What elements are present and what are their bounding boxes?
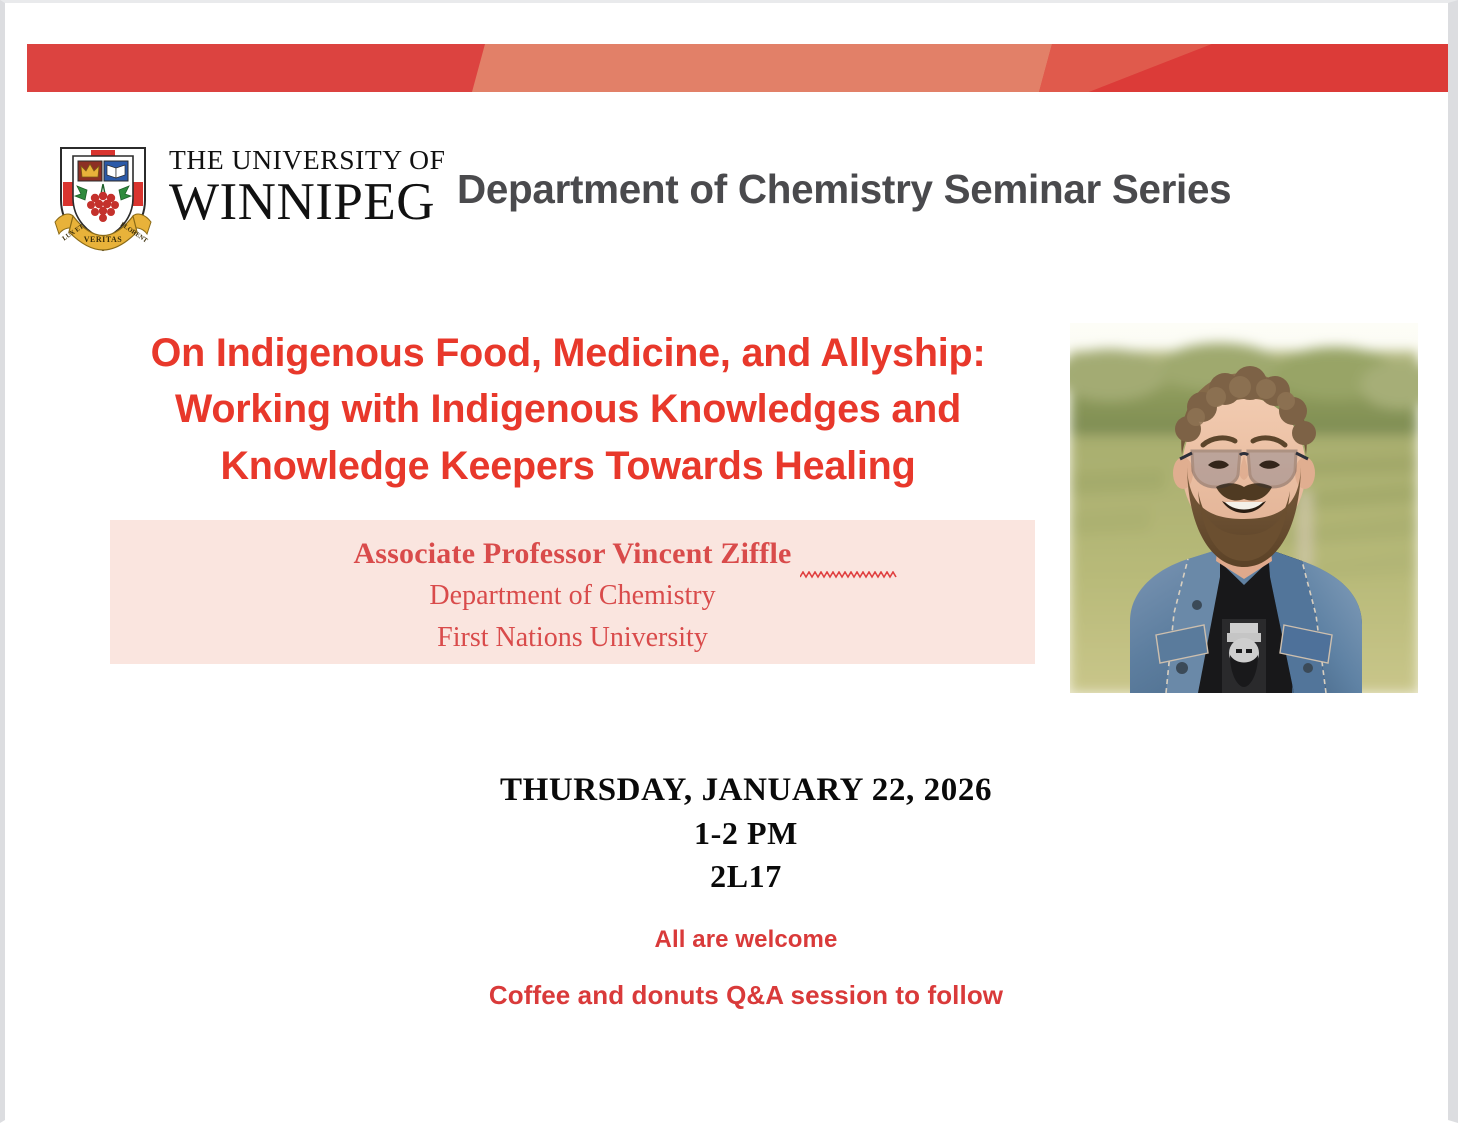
poster-sheet: VERITAS LUX ET FLORENT THE UNIVERSITY OF… <box>5 3 1448 1120</box>
university-wordmark: THE UNIVERSITY OF WINNIPEG <box>169 146 439 229</box>
welcome-note: All are welcome <box>409 926 1083 954</box>
banner-bands-graphic <box>27 44 1448 92</box>
speaker-name-text: Associate Professor Vincent Ziffle <box>353 537 791 570</box>
talk-title-line-2: Working with Indigenous Knowledges and <box>111 381 1025 437</box>
svg-text:VERITAS: VERITAS <box>84 235 123 244</box>
speaker-info-panel: Associate Professor Vincent Ziffle Depar… <box>110 520 1035 664</box>
seminar-poster: VERITAS LUX ET FLORENT THE UNIVERSITY OF… <box>0 0 1458 1123</box>
university-logo-block: VERITAS LUX ET FLORENT THE UNIVERSITY OF… <box>47 138 437 256</box>
speaker-name-row: Associate Professor Vincent Ziffle <box>110 534 1035 575</box>
speaker-name: Associate Professor Vincent Ziffle <box>353 534 791 575</box>
talk-title: On Indigenous Food, Medicine, and Allysh… <box>111 325 1025 494</box>
speaker-photo <box>1070 323 1418 693</box>
seminar-series-title: Department of Chemistry Seminar Series <box>457 166 1231 213</box>
event-room: 2L17 <box>409 855 1083 898</box>
talk-title-line-1: On Indigenous Food, Medicine, and Allysh… <box>111 325 1025 381</box>
talk-title-line-3: Knowledge Keepers Towards Healing <box>111 438 1025 494</box>
speaker-institution: First Nations University <box>110 617 1035 660</box>
university-crest-icon: VERITAS LUX ET FLORENT <box>47 138 159 256</box>
spellcheck-squiggle-icon <box>800 571 897 579</box>
event-date: THURSDAY, JANUARY 22, 2026 <box>409 769 1083 812</box>
speaker-info-text: Associate Professor Vincent Ziffle Depar… <box>110 534 1035 660</box>
wordmark-line-2: WINNIPEG <box>169 175 439 229</box>
wordmark-line-1: THE UNIVERSITY OF <box>169 146 439 175</box>
speaker-department: Department of Chemistry <box>110 575 1035 618</box>
event-time: 1-2 PM <box>409 812 1083 855</box>
speaker-portrait-illustration <box>1070 323 1418 693</box>
event-details: THURSDAY, JANUARY 22, 2026 1-2 PM 2L17 <box>409 769 1083 898</box>
header-color-banner <box>27 44 1448 92</box>
followup-note: Coffee and donuts Q&A session to follow <box>409 980 1083 1011</box>
